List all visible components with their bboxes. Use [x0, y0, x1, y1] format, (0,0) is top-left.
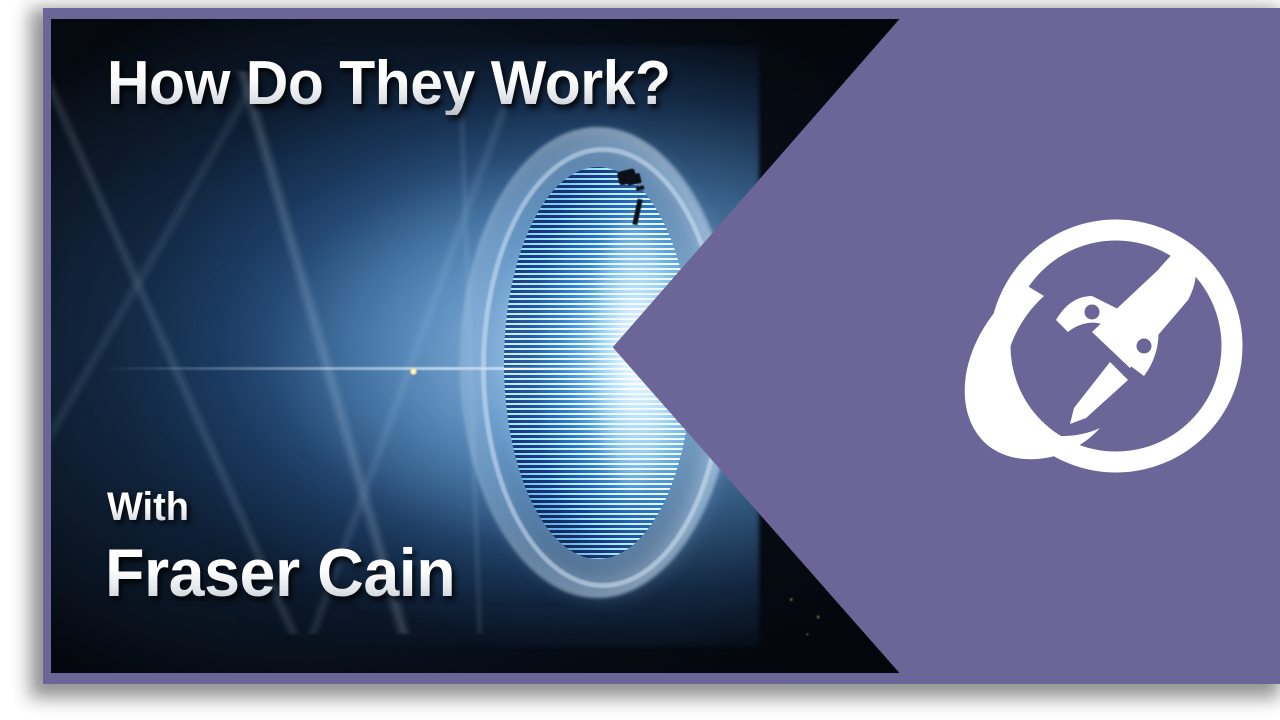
host-name: Fraser Cain	[105, 539, 455, 607]
thumbnail-canvas: How Do They Work? With Fraser Cain	[51, 19, 1272, 673]
spark-highlight	[410, 368, 417, 375]
universe-today-logo	[952, 196, 1252, 496]
thumbnail-stage: How Do They Work? With Fraser Cain	[0, 0, 1280, 720]
page-title: How Do They Work?	[107, 52, 670, 115]
with-label: With	[107, 487, 189, 527]
thumbnail-frame: How Do They Work? With Fraser Cain	[43, 8, 1280, 684]
